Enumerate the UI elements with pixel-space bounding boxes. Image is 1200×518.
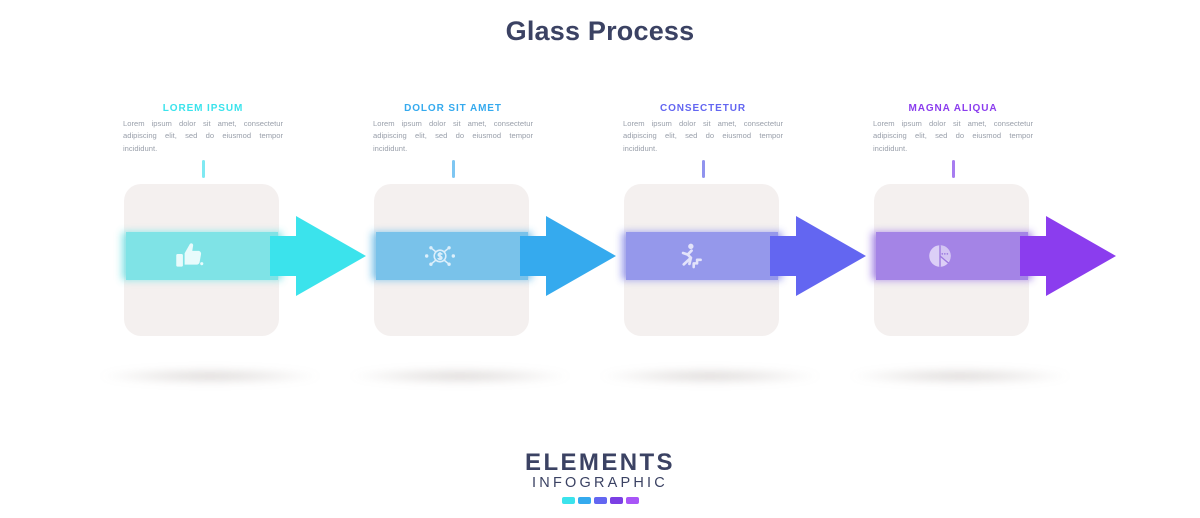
step-description: Lorem ipsum dolor sit amet, consectetur … (123, 118, 283, 155)
card-shadow (600, 368, 820, 384)
connector-tick (452, 160, 455, 178)
logo-bar (594, 497, 607, 504)
process-step-4[interactable]: MAGNA ALIQUA Lorem ipsum dolor sit amet,… (828, 0, 1078, 420)
logo-title: ELEMENTS (0, 450, 1200, 476)
step-description: Lorem ipsum dolor sit amet, consectetur … (623, 118, 783, 155)
footer-logo: ELEMENTS INFOGRAPHIC (0, 450, 1200, 504)
logo-bar (626, 497, 639, 504)
logo-subtitle: INFOGRAPHIC (0, 476, 1200, 492)
infographic-page: Glass Process LOREM IPSUM Lorem ipsum do… (0, 0, 1200, 518)
logo-color-bars (0, 497, 1200, 504)
process-step-1[interactable]: LOREM IPSUM Lorem ipsum dolor sit amet, … (78, 0, 328, 420)
connector-tick (702, 160, 705, 178)
card-shadow (350, 368, 570, 384)
card-shadow (850, 368, 1070, 384)
logo-bar (562, 497, 575, 504)
step-heading: MAGNA ALIQUA (873, 103, 1033, 114)
pie-chart-icon (920, 236, 960, 276)
card-shadow (100, 368, 320, 384)
step-description: Lorem ipsum dolor sit amet, consectetur … (373, 118, 533, 155)
connector-tick (952, 160, 955, 178)
process-arrow (1020, 210, 1118, 302)
step-heading: DOLOR SIT AMET (373, 103, 533, 114)
connector-tick (202, 160, 205, 178)
step-description: Lorem ipsum dolor sit amet, consectetur … (873, 118, 1033, 155)
stairs-climb-icon (670, 236, 710, 276)
logo-bar (578, 497, 591, 504)
step-heading: LOREM IPSUM (123, 103, 283, 114)
thumbs-up-icon (170, 236, 210, 276)
step-heading: CONSECTETUR (623, 103, 783, 114)
process-steps: LOREM IPSUM Lorem ipsum dolor sit amet, … (0, 0, 1200, 518)
money-network-icon (420, 236, 460, 276)
logo-bar (610, 497, 623, 504)
process-step-3[interactable]: CONSECTETUR Lorem ipsum dolor sit amet, … (578, 0, 828, 420)
process-step-2[interactable]: DOLOR SIT AMET Lorem ipsum dolor sit ame… (328, 0, 578, 420)
